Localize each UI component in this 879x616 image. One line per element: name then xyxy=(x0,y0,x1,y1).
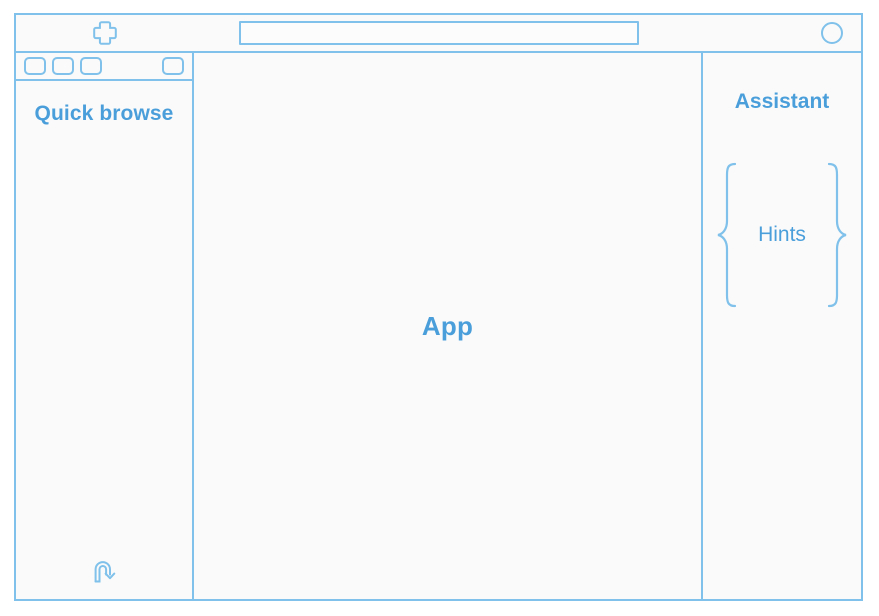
sidebar-title: Quick browse xyxy=(16,81,192,128)
sidebar-tool-button-2[interactable] xyxy=(52,57,74,75)
address-search-input[interactable] xyxy=(239,21,639,45)
sidebar-tool-button-3[interactable] xyxy=(80,57,102,75)
browser-wireframe-window: Quick browse App Assistant xyxy=(14,13,863,601)
app-label: App xyxy=(422,311,473,342)
window-body: Quick browse App Assistant xyxy=(16,53,861,599)
top-bar xyxy=(16,15,861,53)
plus-icon[interactable] xyxy=(92,20,118,46)
hints-label: Hints xyxy=(758,223,806,247)
circle-avatar-icon[interactable] xyxy=(821,22,843,44)
assistant-title: Assistant xyxy=(729,53,836,115)
assistant-panel: Assistant Hints xyxy=(703,53,861,599)
sidebar-footer xyxy=(16,543,192,599)
sidebar-toolbar xyxy=(16,53,192,81)
u-turn-arrow-icon[interactable] xyxy=(89,557,119,585)
sidebar-content-area xyxy=(16,128,192,543)
app-main-canvas[interactable]: App xyxy=(194,53,703,599)
right-curly-brace-icon xyxy=(825,161,849,309)
top-bar-left-region xyxy=(16,15,194,51)
sidebar-tool-button-4[interactable] xyxy=(162,57,184,75)
hints-group: Hints xyxy=(715,161,849,309)
top-bar-center-region xyxy=(194,15,683,51)
left-curly-brace-icon xyxy=(715,161,739,309)
top-bar-right-region xyxy=(683,15,861,51)
sidebar-tool-button-1[interactable] xyxy=(24,57,46,75)
sidebar-panel: Quick browse xyxy=(16,53,194,599)
